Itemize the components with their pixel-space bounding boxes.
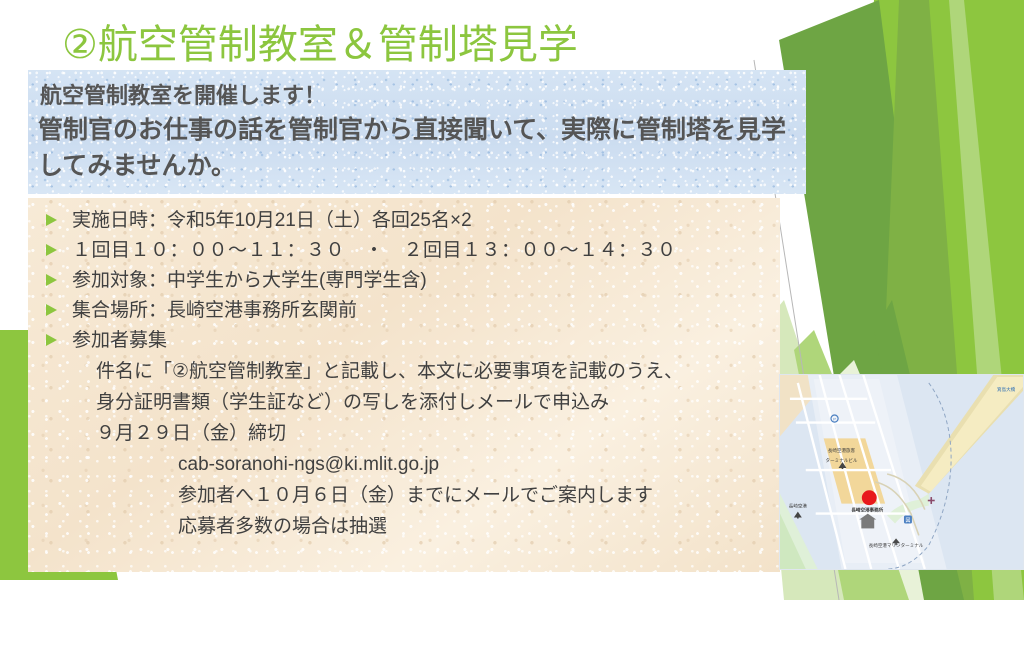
list-item-label: １回目１０：００～１１：３０ ・ ２回目１３：００～１４：３０ xyxy=(72,236,677,266)
map-label-terminal-1: 長崎空港旅客 xyxy=(828,447,856,454)
map-label-terminal-2: ターミナルビル xyxy=(826,457,858,464)
list-item-label: 参加対象：中学生から大学生(専門学生含) xyxy=(72,266,427,296)
lead-headline: 航空管制教室を開催します！ xyxy=(40,78,326,110)
body-content-panel: 実施日時：令和5年10月21日（土）各回25名×2 １回目１０：００～１１：３０… xyxy=(28,198,780,572)
lead-callout-box: 航空管制教室を開催します！ 管制官のお仕事の話を管制官から直接聞いて、実際に管制… xyxy=(28,70,806,194)
svg-text:図: 図 xyxy=(905,518,910,524)
list-item-label: 集合場所：長崎空港事務所玄関前 xyxy=(72,296,357,326)
application-line-attachment: 身分証明書類（学生証など）の写しを添付しメールで申込み xyxy=(96,387,756,418)
bullet-list: 実施日時：令和5年10月21日（土）各回25名×2 １回目１０：００～１１：３０… xyxy=(46,206,761,356)
list-item: 実施日時：令和5年10月21日（土）各回25名×2 xyxy=(46,206,761,236)
list-item-label: 参加者募集 xyxy=(72,326,167,356)
triangle-bullet-icon xyxy=(46,296,72,316)
list-item-label: 実施日時：令和5年10月21日（土）各回25名×2 xyxy=(72,206,472,236)
page-title: ②航空管制教室＆管制塔見学 xyxy=(62,20,578,70)
slide-canvas: ②航空管制教室＆管制塔見学 航空管制教室を開催します！ 管制官のお仕事の話を管制… xyxy=(0,0,1024,647)
map-label-office: 長崎空港事務所 xyxy=(851,507,883,514)
application-details: 件名に「②航空管制教室」と記載し、本文に必要事項を記載のうえ、 身分証明書類（学… xyxy=(96,356,756,542)
map-label-marine-terminal: 長崎空港マリンターミナル xyxy=(869,542,924,549)
list-item: 参加対象：中学生から大学生(専門学生含) xyxy=(46,266,761,296)
lottery-note: 応募者多数の場合は抽選 xyxy=(178,511,756,542)
svg-text:P: P xyxy=(833,417,836,422)
triangle-bullet-icon xyxy=(46,206,72,226)
contact-block: cab-soranohi-ngs@ki.mlit.go.jp 参加者へ１０月６日… xyxy=(178,449,756,542)
application-deadline: ９月２９日（金）締切 xyxy=(96,423,286,444)
triangle-bullet-icon xyxy=(46,266,72,286)
location-map-image: P 図 長崎空港旅客 ターミナルビル 長崎空港事務所 xyxy=(779,374,1024,570)
map-label-airport: 長崎空港 xyxy=(789,503,808,510)
triangle-bullet-icon xyxy=(46,326,72,346)
triangle-bullet-icon xyxy=(46,236,72,256)
map-label-bridge: 箕島大橋 xyxy=(997,386,1016,393)
contact-email[interactable]: cab-soranohi-ngs@ki.mlit.go.jp xyxy=(178,449,756,480)
list-item: １回目１０：００～１１：３０ ・ ２回目１３：００～１４：３０ xyxy=(46,236,761,266)
lead-description: 管制官のお仕事の話を管制官から直接聞いて、実際に管制塔を見学してみませんか。 xyxy=(38,112,808,184)
list-item: 集合場所：長崎空港事務所玄関前 xyxy=(46,296,761,326)
application-line-subject: 件名に「②航空管制教室」と記載し、本文に必要事項を記載のうえ、 xyxy=(96,356,756,387)
notification-note: 参加者へ１０月６日（金）までにメールでご案内します xyxy=(178,480,756,511)
list-item: 参加者募集 xyxy=(46,326,761,356)
